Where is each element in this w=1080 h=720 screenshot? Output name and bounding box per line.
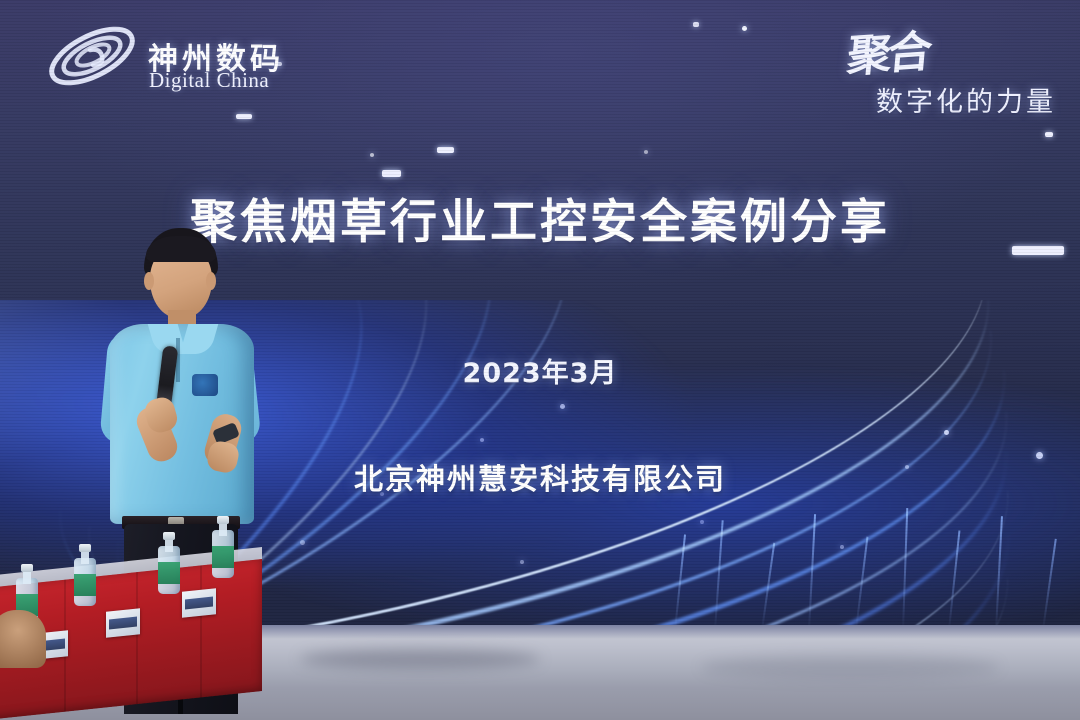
- water-bottle: [158, 532, 180, 594]
- conference-stage-photo: 神州数码 Digital China 聚合 数字化的力量 聚焦烟草行业工控安全案…: [0, 0, 1080, 720]
- name-card: [182, 588, 216, 618]
- digital-china-swirl-icon: [44, 18, 140, 94]
- event-logo: 聚合 数字化的力量: [800, 18, 1060, 118]
- speaker-ear-right: [206, 272, 216, 290]
- water-bottle: [74, 544, 96, 606]
- sponsor-name-en: Digital China: [149, 68, 269, 93]
- speaker-shirt-logo: [192, 374, 218, 396]
- event-logo-calligraphy: 聚合: [845, 15, 931, 84]
- speaker-ear-left: [144, 272, 154, 290]
- foreground-attendee: [0, 610, 46, 668]
- water-bottle: [212, 516, 234, 578]
- event-logo-tagline: 数字化的力量: [876, 80, 1056, 119]
- name-card: [106, 608, 140, 638]
- speaker-fringe: [146, 236, 216, 262]
- sponsor-logo-digital-china: 神州数码 Digital China: [44, 16, 294, 96]
